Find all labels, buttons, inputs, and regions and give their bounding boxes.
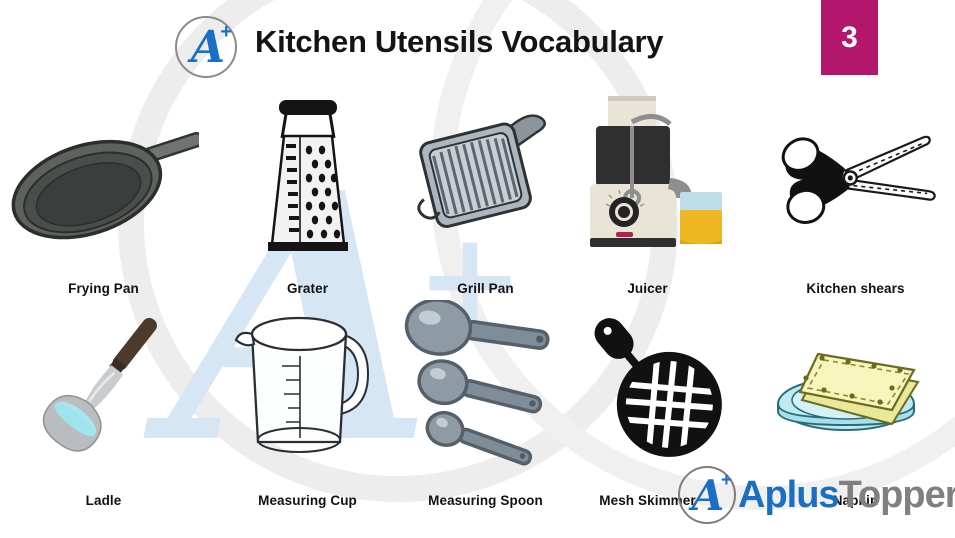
brand-word-topper: Topper [839, 474, 955, 516]
aplus-logo-icon: A + [175, 16, 237, 78]
slide-header: A + Kitchen Utensils Vocabulary 3 [0, 0, 955, 86]
ladle-illustration [8, 300, 199, 468]
frying-pan-illustration [8, 92, 199, 260]
utensil-cell-measuring-cup[interactable]: Measuring Cup [212, 300, 403, 508]
kitchen-shears-illustration [760, 92, 951, 260]
logo-plus-icon: + [220, 22, 232, 42]
utensil-row: Frying Pan [0, 92, 955, 300]
measuring-cup-illustration [212, 300, 403, 468]
brand-wordmark: AplusTopper [738, 474, 955, 517]
utensil-grid: Frying Pan [0, 92, 955, 508]
aplustopper-logo-icon: A + [678, 466, 736, 524]
footer-logo-plus-icon: + [721, 470, 732, 492]
page-title: Kitchen Utensils Vocabulary [255, 24, 663, 60]
juicer-illustration [552, 92, 743, 260]
utensil-label: Frying Pan [8, 281, 199, 296]
utensil-label: Juicer [552, 281, 743, 296]
utensil-label: Measuring Cup [212, 493, 403, 508]
aplustopper-watermark: A + AplusTopper [672, 462, 955, 532]
page-number-badge: 3 [821, 0, 878, 75]
mesh-skimmer-illustration [552, 300, 743, 468]
utensil-cell-frying-pan[interactable]: Frying Pan [8, 92, 199, 300]
brand-word-aplus: Aplus [738, 474, 839, 516]
utensil-cell-grater[interactable]: Grater [212, 92, 403, 300]
utensil-cell-kitchen-shears[interactable]: Kitchen shears [760, 92, 951, 300]
utensil-cell-ladle[interactable]: Ladle [8, 300, 199, 508]
utensil-cell-juicer[interactable]: Juicer [552, 92, 743, 300]
utensil-label: Grater [212, 281, 403, 296]
box-grater-illustration [212, 92, 403, 260]
slide: A+ A + Kitchen Utensils Vocabulary 3 [0, 0, 955, 538]
napkin-illustration [760, 300, 951, 468]
utensil-label: Kitchen shears [760, 281, 951, 296]
utensil-label: Ladle [8, 493, 199, 508]
